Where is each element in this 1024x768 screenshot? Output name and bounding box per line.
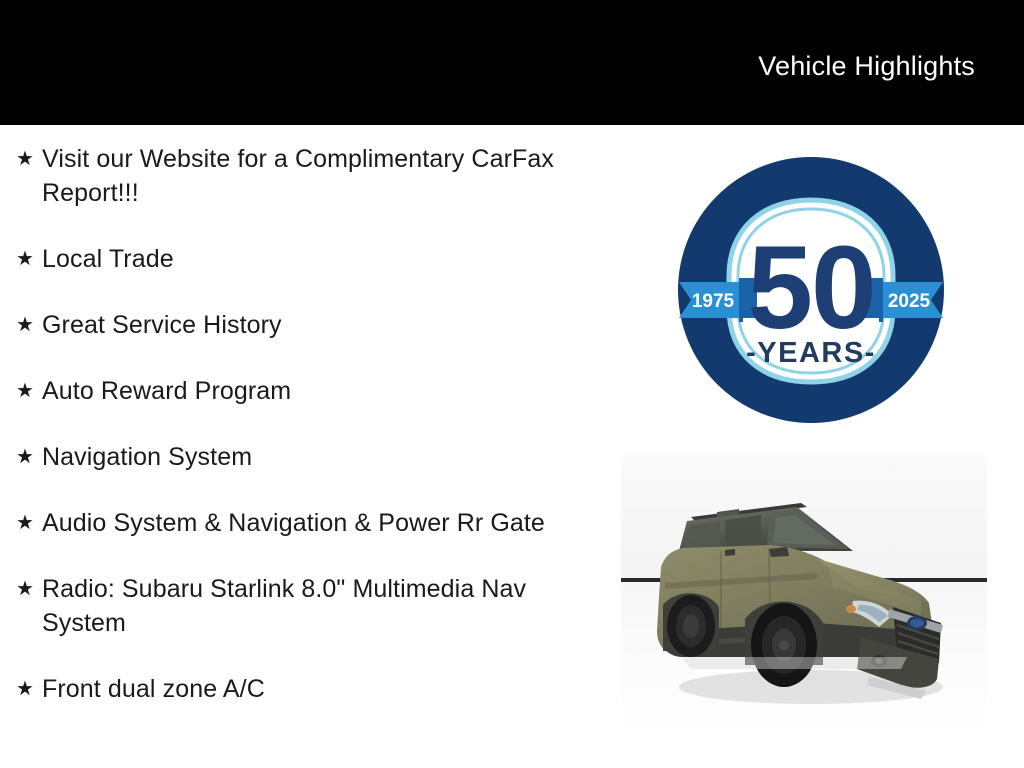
- star-icon: ★: [14, 308, 42, 342]
- start-year-label: 1975: [692, 291, 735, 312]
- header-bar: Vehicle Highlights: [0, 0, 1024, 125]
- list-item-label: Navigation System: [42, 440, 594, 474]
- list-item-label: Audio System & Navigation & Power Rr Gat…: [42, 506, 594, 540]
- list-item: ★ Front dual zone A/C: [14, 672, 594, 706]
- list-item-label: Radio: Subaru Starlink 8.0" Multimedia N…: [42, 572, 594, 640]
- star-icon: ★: [14, 440, 42, 474]
- anniversary-years-label: -YEARS-: [746, 337, 876, 369]
- list-item: ★ Audio System & Navigation & Power Rr G…: [14, 506, 594, 540]
- star-icon: ★: [14, 672, 42, 706]
- star-icon: ★: [14, 506, 42, 540]
- list-item: ★ Auto Reward Program: [14, 374, 594, 408]
- vehicle-image: [621, 455, 987, 738]
- anniversary-number: 50: [747, 222, 874, 354]
- end-year-label: 2025: [888, 291, 931, 312]
- list-item: ★ Local Trade: [14, 242, 594, 276]
- anniversary-badge-icon: 1975 2025 50 -YEARS-: [677, 156, 945, 424]
- list-item: ★ Navigation System: [14, 440, 594, 474]
- vehicle-highlights-list: ★ Visit our Website for a Complimentary …: [14, 142, 594, 706]
- list-item-label: Local Trade: [42, 242, 594, 276]
- star-icon: ★: [14, 142, 42, 176]
- list-item: ★ Radio: Subaru Starlink 8.0" Multimedia…: [14, 572, 594, 640]
- list-item-label: Visit our Website for a Complimentary Ca…: [42, 142, 594, 210]
- list-item-label: Front dual zone A/C: [42, 672, 594, 706]
- vehicle-photo: [621, 455, 987, 738]
- page-title: Vehicle Highlights: [758, 50, 975, 82]
- anniversary-logo: 1975 2025 50 -YEARS-: [677, 156, 945, 424]
- list-item: ★ Visit our Website for a Complimentary …: [14, 142, 594, 210]
- star-icon: ★: [14, 242, 42, 276]
- star-icon: ★: [14, 572, 42, 606]
- main-content: ★ Visit our Website for a Complimentary …: [0, 125, 1024, 768]
- star-icon: ★: [14, 374, 42, 408]
- list-item-label: Great Service History: [42, 308, 594, 342]
- list-item-label: Auto Reward Program: [42, 374, 594, 408]
- list-item: ★ Great Service History: [14, 308, 594, 342]
